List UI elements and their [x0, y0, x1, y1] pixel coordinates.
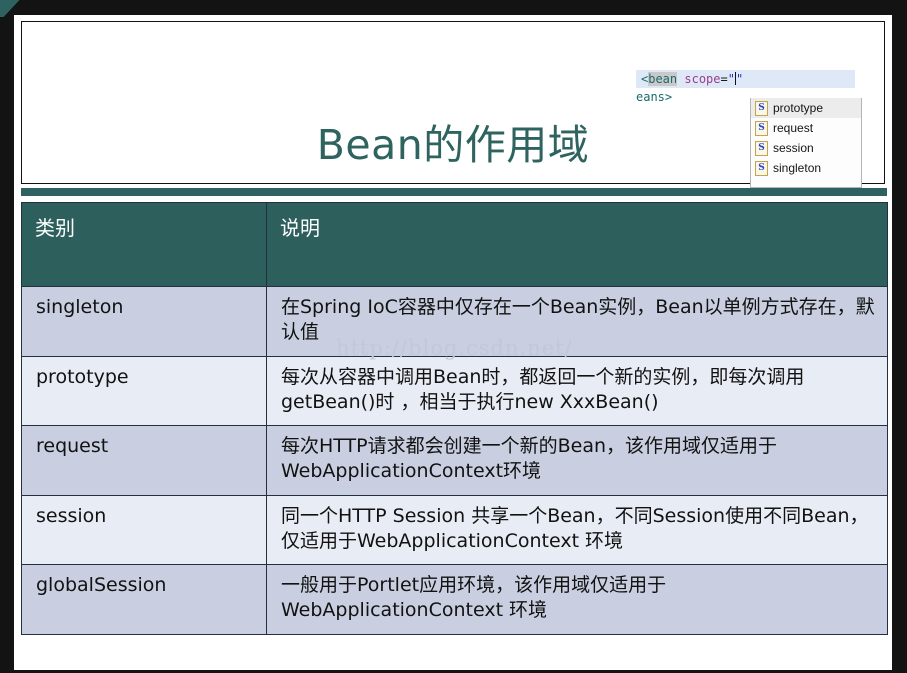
scope-s-icon: S: [755, 161, 768, 176]
scope-desc-singleton: 在Spring IoC容器中仅存在一个Bean实例，Bean以单例方式存在，默认…: [267, 287, 888, 357]
bean-scope-table: 类别 说明 singleton 在Spring IoC容器中仅存在一个Bean实…: [21, 202, 888, 635]
scope-s-icon: S: [755, 141, 768, 156]
autocomplete-item-singleton[interactable]: S singleton: [751, 158, 861, 178]
autocomplete-popup[interactable]: S prototype S request S session S single…: [750, 98, 862, 188]
column-header-description: 说明: [267, 203, 888, 287]
autocomplete-item-session[interactable]: S session: [751, 138, 861, 158]
slide-frame-top: [0, 0, 907, 15]
scope-desc-request: 每次HTTP请求都会创建一个新的Bean，该作用域仅适用于WebApplicat…: [267, 426, 888, 496]
slide-frame-left: [0, 0, 14, 673]
slide-frame-right: [892, 0, 907, 673]
column-header-type: 类别: [22, 203, 267, 287]
autocomplete-item-prototype[interactable]: S prototype: [751, 98, 861, 118]
corner-accent-triangle: [0, 0, 26, 17]
table-row: prototype 每次从容器中调用Bean时，都返回一个新的实例，即每次调用g…: [22, 356, 888, 426]
autocomplete-item-request[interactable]: S request: [751, 118, 861, 138]
scope-s-icon: S: [755, 121, 768, 136]
autocomplete-item-label: session: [773, 141, 814, 155]
table-row: singleton 在Spring IoC容器中仅存在一个Bean实例，Bean…: [22, 287, 888, 357]
table-body: singleton 在Spring IoC容器中仅存在一个Bean实例，Bean…: [22, 287, 888, 635]
code-attribute-name: scope: [684, 72, 720, 86]
table-header-row: 类别 说明: [22, 203, 888, 287]
table-row: session 同一个HTTP Session 共享一个Bean，不同Sessi…: [22, 495, 888, 565]
autocomplete-item-label: prototype: [773, 101, 823, 115]
table-header: 类别 说明: [22, 203, 888, 287]
code-line-current: <bean scope="": [636, 70, 855, 88]
scope-s-icon: S: [755, 101, 768, 116]
scope-name-globalsession: globalSession: [22, 565, 267, 635]
scope-desc-session: 同一个HTTP Session 共享一个Bean，不同Session使用不同Be…: [267, 495, 888, 565]
scope-name-request: request: [22, 426, 267, 496]
scope-desc-globalsession: 一般用于Portlet应用环境，该作用域仅适用于WebApplicationCo…: [267, 565, 888, 635]
scope-name-prototype: prototype: [22, 356, 267, 426]
scope-name-session: session: [22, 495, 267, 565]
code-tag-name: bean: [648, 72, 677, 86]
autocomplete-item-label: singleton: [773, 161, 821, 175]
table-row: request 每次HTTP请求都会创建一个新的Bean，该作用域仅适用于Web…: [22, 426, 888, 496]
code-line-next: eans>: [636, 89, 672, 105]
presentation-slide: Bean的作用域 <bean scope="" eans> S prototyp…: [0, 0, 907, 673]
code-editor-screenshot: <bean scope="" eans> S prototype S reque…: [636, 70, 863, 190]
scope-name-singleton: singleton: [22, 287, 267, 357]
autocomplete-popup-footer: [751, 178, 861, 187]
code-quote-open: ": [728, 72, 735, 86]
code-equals: =: [721, 72, 728, 86]
scope-desc-prototype: 每次从容器中调用Bean时，都返回一个新的实例，即每次调用getBean()时 …: [267, 356, 888, 426]
autocomplete-item-label: request: [773, 121, 813, 135]
table-row: globalSession 一般用于Portlet应用环境，该作用域仅适用于We…: [22, 565, 888, 635]
code-quote-close: ": [736, 72, 743, 86]
